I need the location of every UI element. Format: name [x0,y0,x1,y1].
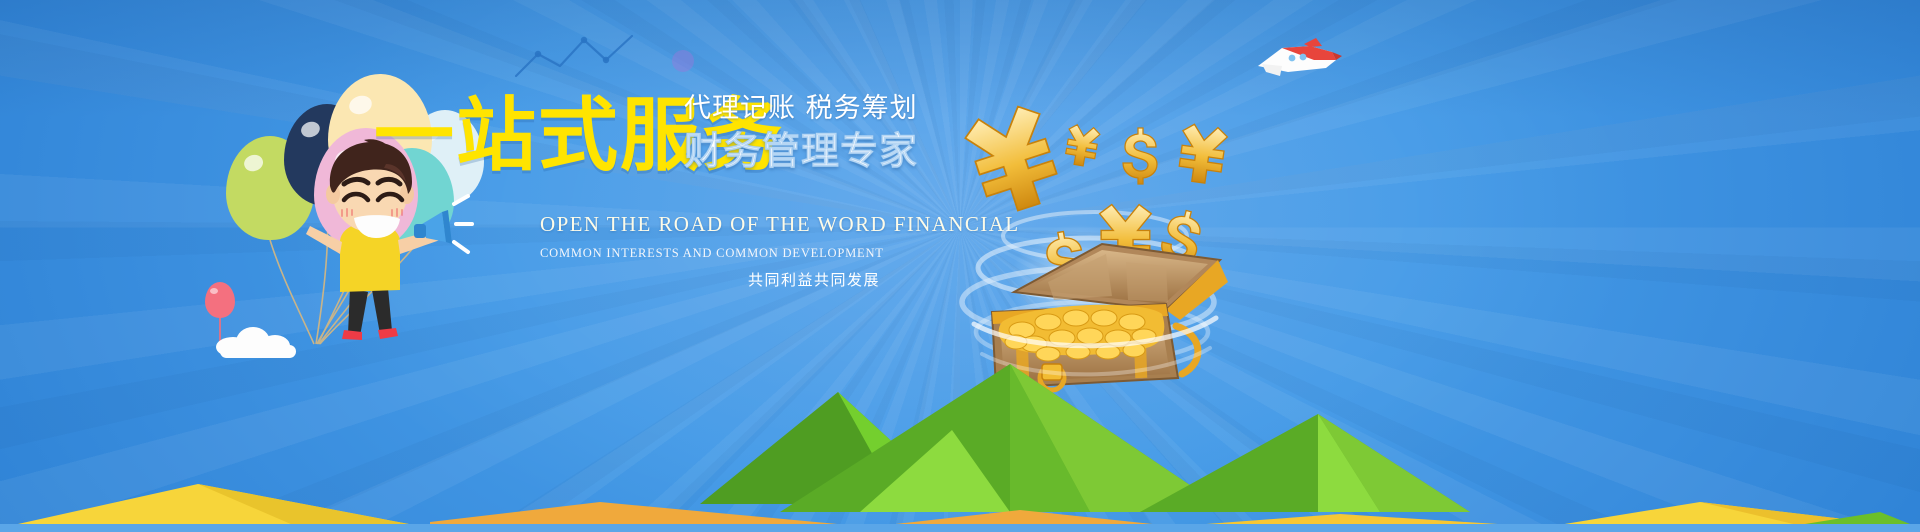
low-poly-mountains-icon [0,352,1920,532]
yen-symbol-icon [961,101,1066,219]
dollar-symbol-icon [1123,128,1157,184]
expert-tagline: 财务管理专家 [684,128,918,174]
cloud-icon [216,325,300,355]
airplane-icon [1252,36,1344,84]
decorative-purple-dot [672,50,694,72]
promotional-banner: 一站式服务 代理记账 税务筹划 财务管理专家 OPEN THE ROAD OF … [0,0,1920,532]
treasure-chest-with-gold-coins-icon [930,96,1260,396]
small-balloon-icon [205,282,235,318]
english-headline: OPEN THE ROAD OF THE WORD FINANCIAL [540,212,880,237]
rising-chart-line-icon [514,32,634,84]
chinese-tagline: 共同利益共同发展 [540,269,880,290]
subtitle-group: 代理记账 税务筹划 财务管理专家 [684,92,918,174]
yen-symbol-icon [1063,124,1101,168]
english-tagline-block: OPEN THE ROAD OF THE WORD FINANCIAL COMM… [540,212,880,290]
english-subline: COMMON INTERESTS AND COMMON DEVELOPMENT [540,246,880,261]
yen-symbol-icon [1176,123,1228,185]
service-list-line: 代理记账 税务筹划 [684,92,918,126]
